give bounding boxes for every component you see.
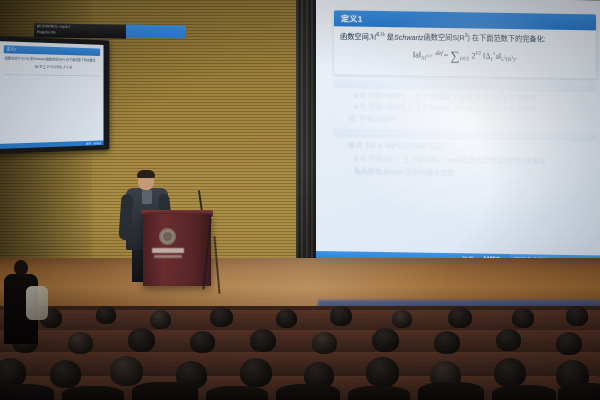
monitor-faded-body [0, 78, 103, 90]
faded-block-2: 推论: ‖a‖ ≲ ‖a‖^{1/2}‖∇a‖^{1/2} a ∈ ℬ^{0,½… [334, 129, 596, 181]
audience-head [276, 309, 297, 328]
lectern-institution-line [152, 248, 184, 253]
audience-shoulders [558, 383, 600, 400]
audience-shoulders [62, 386, 124, 400]
faded-block-1: a ∈ ℬ^{0,½}(R³) ⇔ ∑ 2^{ℓ/2}‖Δ_ℓ^v a‖_{L²… [334, 80, 596, 128]
standing-attendee-head [14, 260, 28, 276]
presenter-hair [137, 170, 155, 178]
audience-shoulders [348, 386, 410, 400]
audience-shoulders [418, 382, 484, 400]
audience-head [110, 356, 143, 386]
monitor-screen: 定义1 函数空间ℬ^{0,½} 是Schwartz函数空间S(R³) 在下面范数… [0, 41, 103, 149]
audience-head [494, 358, 526, 387]
lectern [143, 214, 211, 286]
curtain-strip [296, 0, 318, 272]
definition-text-label: 函数空间 [340, 32, 369, 41]
audience-head [448, 307, 472, 328]
confidence-monitor: 定义1 函数空间ℬ^{0,½} 是Schwartz函数空间S(R³) 在下面范数… [0, 36, 109, 154]
presenter-shirt [142, 190, 152, 204]
audience-head [68, 332, 93, 354]
monitor-footer-name: 张平 [86, 141, 91, 145]
definition-box: 定义1 函数空间ℳ0,½ 是Schwartz函数空间S(R3) 在下面范数下的完… [334, 10, 596, 79]
audience-head [50, 360, 81, 388]
audience-head [312, 332, 337, 354]
audience-shoulders [132, 382, 198, 400]
slide-content: 定义1 函数空间ℳ0,½ 是Schwartz函数空间S(R3) 在下面范数下的完… [316, 0, 600, 267]
faded-row: 各向异性 Besov 空间的基本性质 [334, 164, 596, 181]
console-blue-panel [126, 24, 186, 38]
audience-seating [0, 306, 600, 400]
monitor-footer-org: AMSS [94, 141, 101, 145]
main-projection-screen: 定义1 函数空间ℳ0,½ 是Schwartz函数空间S(R3) 在下面范数下的完… [316, 0, 600, 267]
audience-head [434, 331, 460, 354]
audience-shoulders [492, 385, 556, 400]
audience-head [566, 306, 588, 326]
definition-text-tail: 函数空间S(R3) 在下面范数下的完备化: [424, 33, 546, 44]
monitor-faded-row [0, 84, 103, 90]
standing-attendee [2, 260, 46, 380]
monitor-divider [5, 74, 100, 76]
audience-head [96, 306, 116, 324]
audience-head [128, 328, 155, 352]
university-emblem-icon [159, 228, 176, 245]
audience-shoulders [0, 384, 54, 400]
audience-head [210, 307, 233, 327]
definition-formula: ‖a‖ℳ0,½ def= ∑ℓ∈Z 2ℓ⁄2 ‖Δℓva‖L2(R3). [334, 43, 596, 73]
audience-head [556, 332, 582, 355]
audience-head [372, 328, 399, 352]
audience-head [330, 306, 352, 326]
lecture-hall-screenshot: 定义1 函数空间ℳ0,½ 是Schwartz函数空间S(R3) 在下面范数下的完… [0, 0, 600, 400]
audience-head [496, 329, 521, 351]
audience-head [366, 357, 399, 387]
av-control-display: AV CONTROL • Input 2 Projector ON [34, 23, 126, 39]
audience-head [190, 331, 215, 353]
lectern-sub-line [154, 255, 182, 258]
console-line-2: Projector ON [34, 29, 126, 37]
definition-text-mid: 是 [387, 33, 394, 42]
audience-shoulders [276, 384, 340, 400]
shoulder-bag [26, 286, 48, 320]
audience-head [250, 329, 276, 352]
audience-head [240, 358, 272, 387]
faded-note: 注: ℬ^{0,½}(R³) ... [334, 111, 596, 128]
audience-head [392, 310, 412, 328]
audience-head [512, 308, 534, 328]
audience-shoulders [206, 386, 268, 400]
audience-head [150, 310, 171, 329]
